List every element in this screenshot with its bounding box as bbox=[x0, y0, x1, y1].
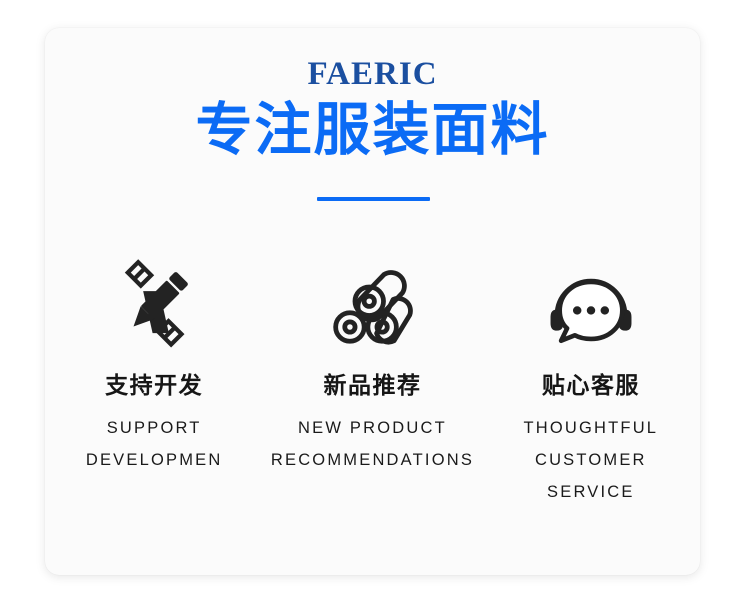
feature-subtitle-line: RECOMMENDATIONS bbox=[271, 444, 474, 476]
headline-title: 专注服装面料 bbox=[45, 101, 700, 161]
feature-subtitle-line: THOUGHTFUL bbox=[523, 412, 658, 444]
feature-subtitle-line: DEVELOPMEN bbox=[86, 444, 223, 476]
pencil-ruler-icon bbox=[107, 256, 201, 352]
brand-name: FAERIC bbox=[45, 58, 700, 91]
feature-subtitle-line: NEW PRODUCT bbox=[271, 412, 474, 444]
feature-item-new-product: 新品推荐 NEW PRODUCT RECOMMENDATIONS bbox=[270, 256, 475, 476]
feature-subtitle-line: CUSTOMER bbox=[523, 444, 658, 476]
headset-chat-icon bbox=[544, 256, 638, 352]
feature-subtitle: THOUGHTFUL CUSTOMER SERVICE bbox=[523, 412, 658, 509]
feature-subtitle: SUPPORT DEVELOPMEN bbox=[86, 412, 223, 476]
feature-item-support-development: 支持开发 SUPPORT DEVELOPMEN bbox=[52, 256, 257, 476]
feature-subtitle-line: SUPPORT bbox=[86, 412, 223, 444]
feature-subtitle: NEW PRODUCT RECOMMENDATIONS bbox=[271, 412, 474, 476]
features-row: 支持开发 SUPPORT DEVELOPMEN bbox=[45, 256, 700, 508]
promo-banner-card: FAERIC 专注服装面料 bbox=[45, 28, 700, 575]
feature-title: 贴心客服 bbox=[542, 372, 640, 401]
feature-item-customer-service: 贴心客服 THOUGHTFUL CUSTOMER SERVICE bbox=[488, 256, 693, 508]
feature-title: 新品推荐 bbox=[323, 372, 421, 401]
header-divider bbox=[317, 197, 430, 201]
fabric-rolls-icon bbox=[325, 256, 419, 352]
feature-title: 支持开发 bbox=[105, 372, 203, 401]
feature-subtitle-line: SERVICE bbox=[523, 476, 658, 508]
